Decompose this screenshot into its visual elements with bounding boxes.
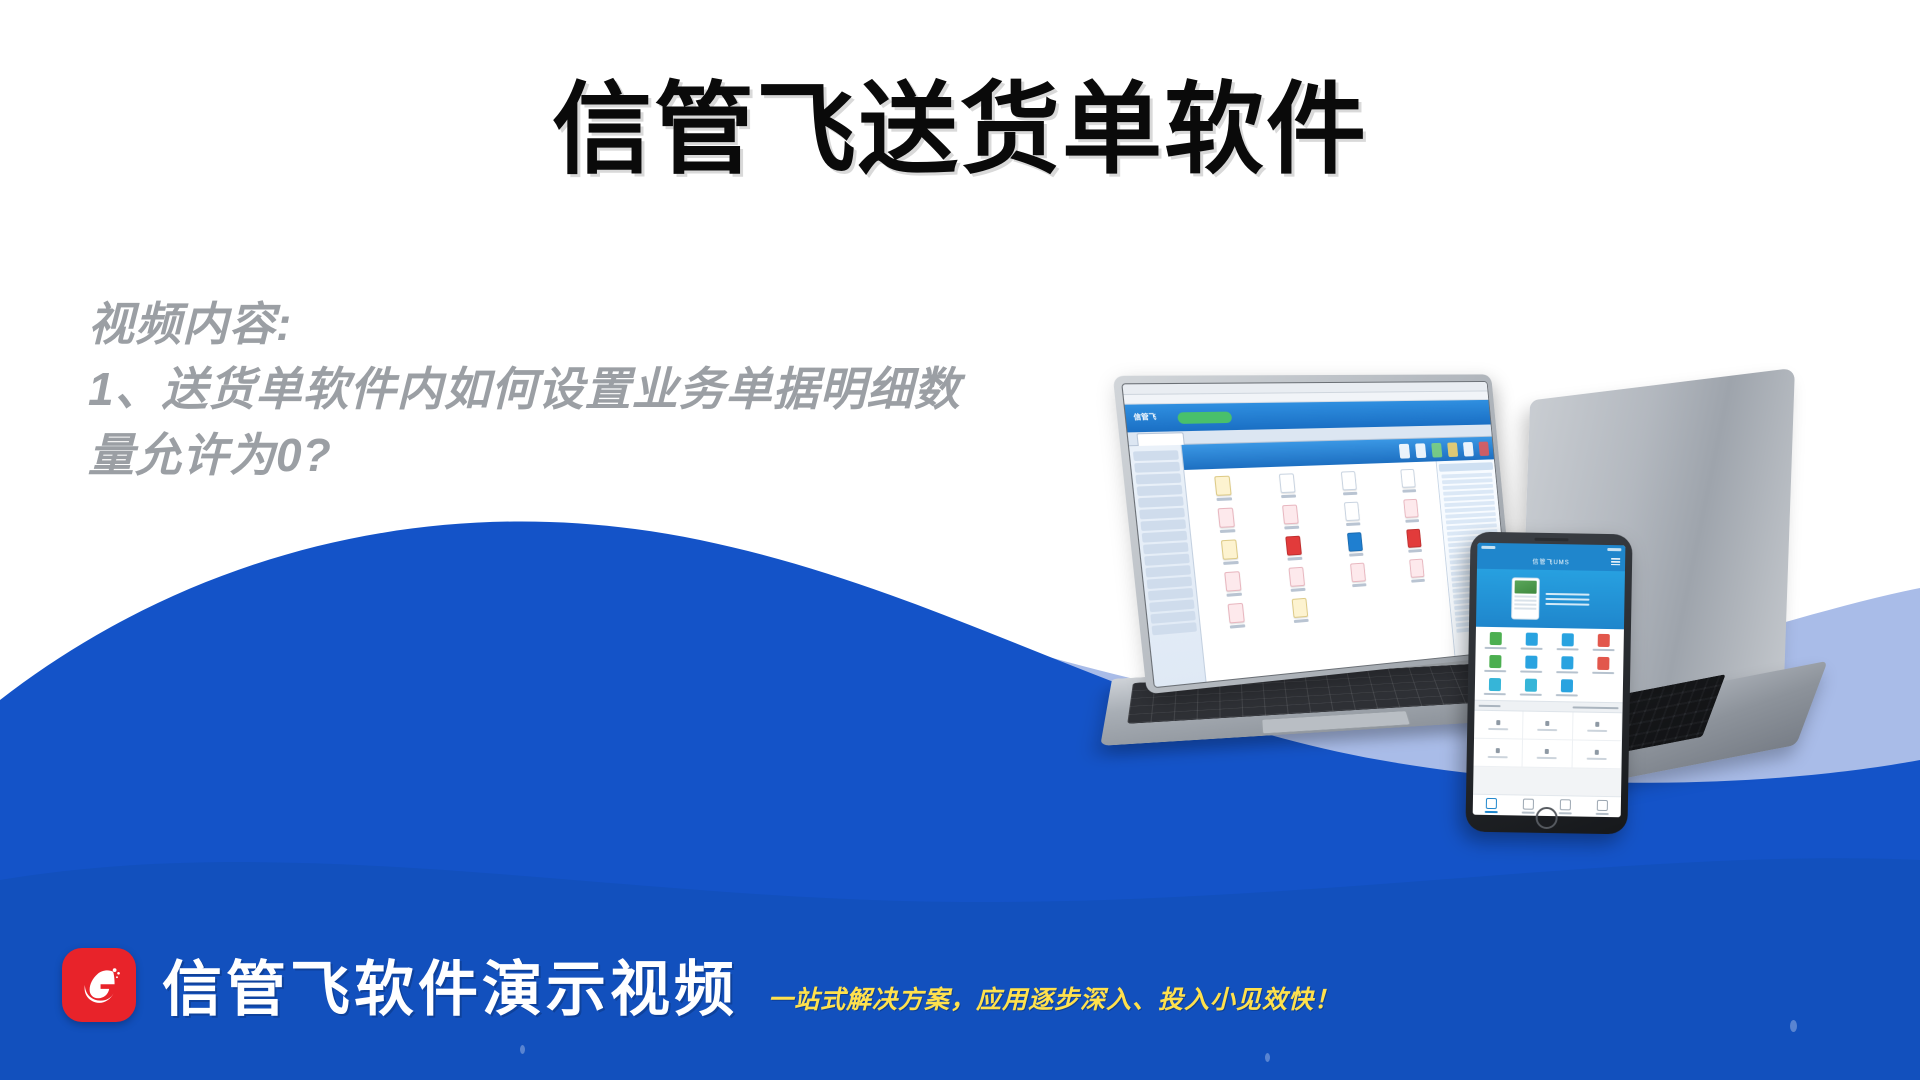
phone-module-tile[interactable] [1585, 657, 1620, 675]
phone-module-tile[interactable] [1549, 679, 1584, 697]
toolbar-icon[interactable] [1399, 443, 1410, 458]
video-content-heading: 视频内容: [88, 292, 1148, 357]
phone-module-tile[interactable] [1586, 634, 1621, 652]
decorative-dot [520, 1045, 525, 1054]
phone-module-tile[interactable] [1478, 655, 1513, 673]
phone-module-tile-empty [1585, 680, 1620, 698]
phone-module-tile[interactable] [1514, 632, 1549, 650]
footer-bar: 信管飞软件演示视频 一站式解决方案，应用逐步深入、投入小见效快！ [0, 902, 1920, 1080]
front-laptop-lid: 信管飞 [1113, 374, 1518, 694]
erp-module-tile[interactable] [1382, 498, 1440, 524]
toolbar-icon[interactable] [1447, 442, 1458, 457]
phone-module-tile[interactable] [1550, 656, 1585, 674]
erp-main-panel [1182, 437, 1513, 685]
toolbar-icon[interactable] [1415, 443, 1426, 458]
erp-module-tile[interactable] [1269, 596, 1332, 625]
phone-module-tile[interactable] [1550, 633, 1585, 651]
erp-module-tile[interactable] [1318, 470, 1379, 496]
phone-stat-cell[interactable] [1523, 712, 1573, 741]
erp-module-tile[interactable] [1200, 569, 1266, 598]
toolbar-icon[interactable] [1463, 442, 1474, 457]
toolbar-icon[interactable] [1431, 442, 1442, 457]
smartphone: 信管飞UMS [1465, 532, 1632, 835]
decorative-dot [1790, 1020, 1797, 1032]
toolbar-icon[interactable] [1478, 441, 1489, 455]
phone-module-grid [1475, 627, 1624, 703]
video-content-item-1: 1、送货单软件内如何设置业务单据明细数 [88, 357, 1148, 422]
phone-screen: 信管飞UMS [1473, 543, 1626, 818]
erp-module-tile[interactable] [1328, 561, 1388, 589]
phone-banner-text [1545, 590, 1589, 609]
phone-app-title: 信管飞UMS [1532, 556, 1569, 566]
phone-module-tile[interactable] [1479, 632, 1514, 650]
erp-module-tile[interactable] [1379, 468, 1437, 494]
phone-hero-banner [1476, 569, 1625, 630]
decorative-dot [1265, 1053, 1270, 1062]
phone-stats-grid [1474, 711, 1623, 770]
phone-module-tile[interactable] [1478, 678, 1513, 696]
erp-module-tile[interactable] [1325, 531, 1385, 558]
phone-home-button[interactable] [1535, 807, 1557, 829]
erp-module-tile[interactable] [1322, 501, 1383, 528]
video-content-item-1-cont: 量允许为0? [88, 423, 1148, 488]
phone-stat-cell[interactable] [1474, 739, 1524, 768]
nav-profile-tab[interactable] [1584, 797, 1621, 818]
erp-module-tile[interactable] [1190, 475, 1256, 502]
erp-brand-badge [1177, 412, 1232, 424]
erp-body [1129, 437, 1512, 688]
erp-module-tile[interactable] [1385, 528, 1443, 555]
nav-home-tab[interactable] [1473, 795, 1510, 816]
hamburger-menu-icon[interactable] [1611, 558, 1620, 565]
phone-banner-device-mock [1511, 577, 1540, 619]
slide-canvas: 信管飞送货单软件 视频内容: 1、送货单软件内如何设置业务单据明细数 量允许为0… [0, 0, 1920, 1080]
video-content-block: 视频内容: 1、送货单软件内如何设置业务单据明细数 量允许为0? [88, 292, 1148, 488]
phone-module-tile[interactable] [1514, 655, 1549, 673]
phone-stat-cell[interactable] [1523, 740, 1573, 769]
phone-app-header: 信管飞UMS [1477, 551, 1625, 572]
erp-right-panel-title [1439, 462, 1494, 472]
phone-stat-cell[interactable] [1572, 740, 1622, 769]
erp-module-tile[interactable] [1204, 601, 1269, 631]
erp-module-tile[interactable] [1197, 538, 1263, 567]
erp-module-tile[interactable] [1256, 472, 1319, 499]
footer-brand-group: 信管飞软件演示视频 一站式解决方案，应用逐步深入、投入小见效快！ [62, 941, 1340, 1028]
page-title: 信管飞送货单软件 [0, 78, 1920, 183]
erp-active-tab[interactable] [1136, 432, 1184, 446]
brand-name: 信管飞软件演示视频 [162, 941, 738, 1028]
phone-stat-cell[interactable] [1573, 712, 1623, 741]
erp-module-tile[interactable] [1388, 557, 1446, 584]
device-showcase: 信管飞 [1120, 375, 1920, 855]
erp-module-tile[interactable] [1265, 565, 1328, 593]
erp-module-tile[interactable] [1262, 534, 1325, 562]
brand-tagline: 一站式解决方案，应用逐步深入、投入小见效快！ [768, 980, 1340, 1016]
phone-stat-cell[interactable] [1474, 711, 1524, 740]
erp-brand-label: 信管飞 [1133, 412, 1157, 423]
phone-earpiece [1534, 538, 1568, 542]
erp-module-tile[interactable] [1194, 506, 1260, 534]
erp-module-tile[interactable] [1259, 503, 1322, 530]
feibird-logo-icon [62, 948, 136, 1022]
phone-module-tile[interactable] [1514, 678, 1549, 696]
laptop-screen: 信管飞 [1121, 381, 1513, 688]
